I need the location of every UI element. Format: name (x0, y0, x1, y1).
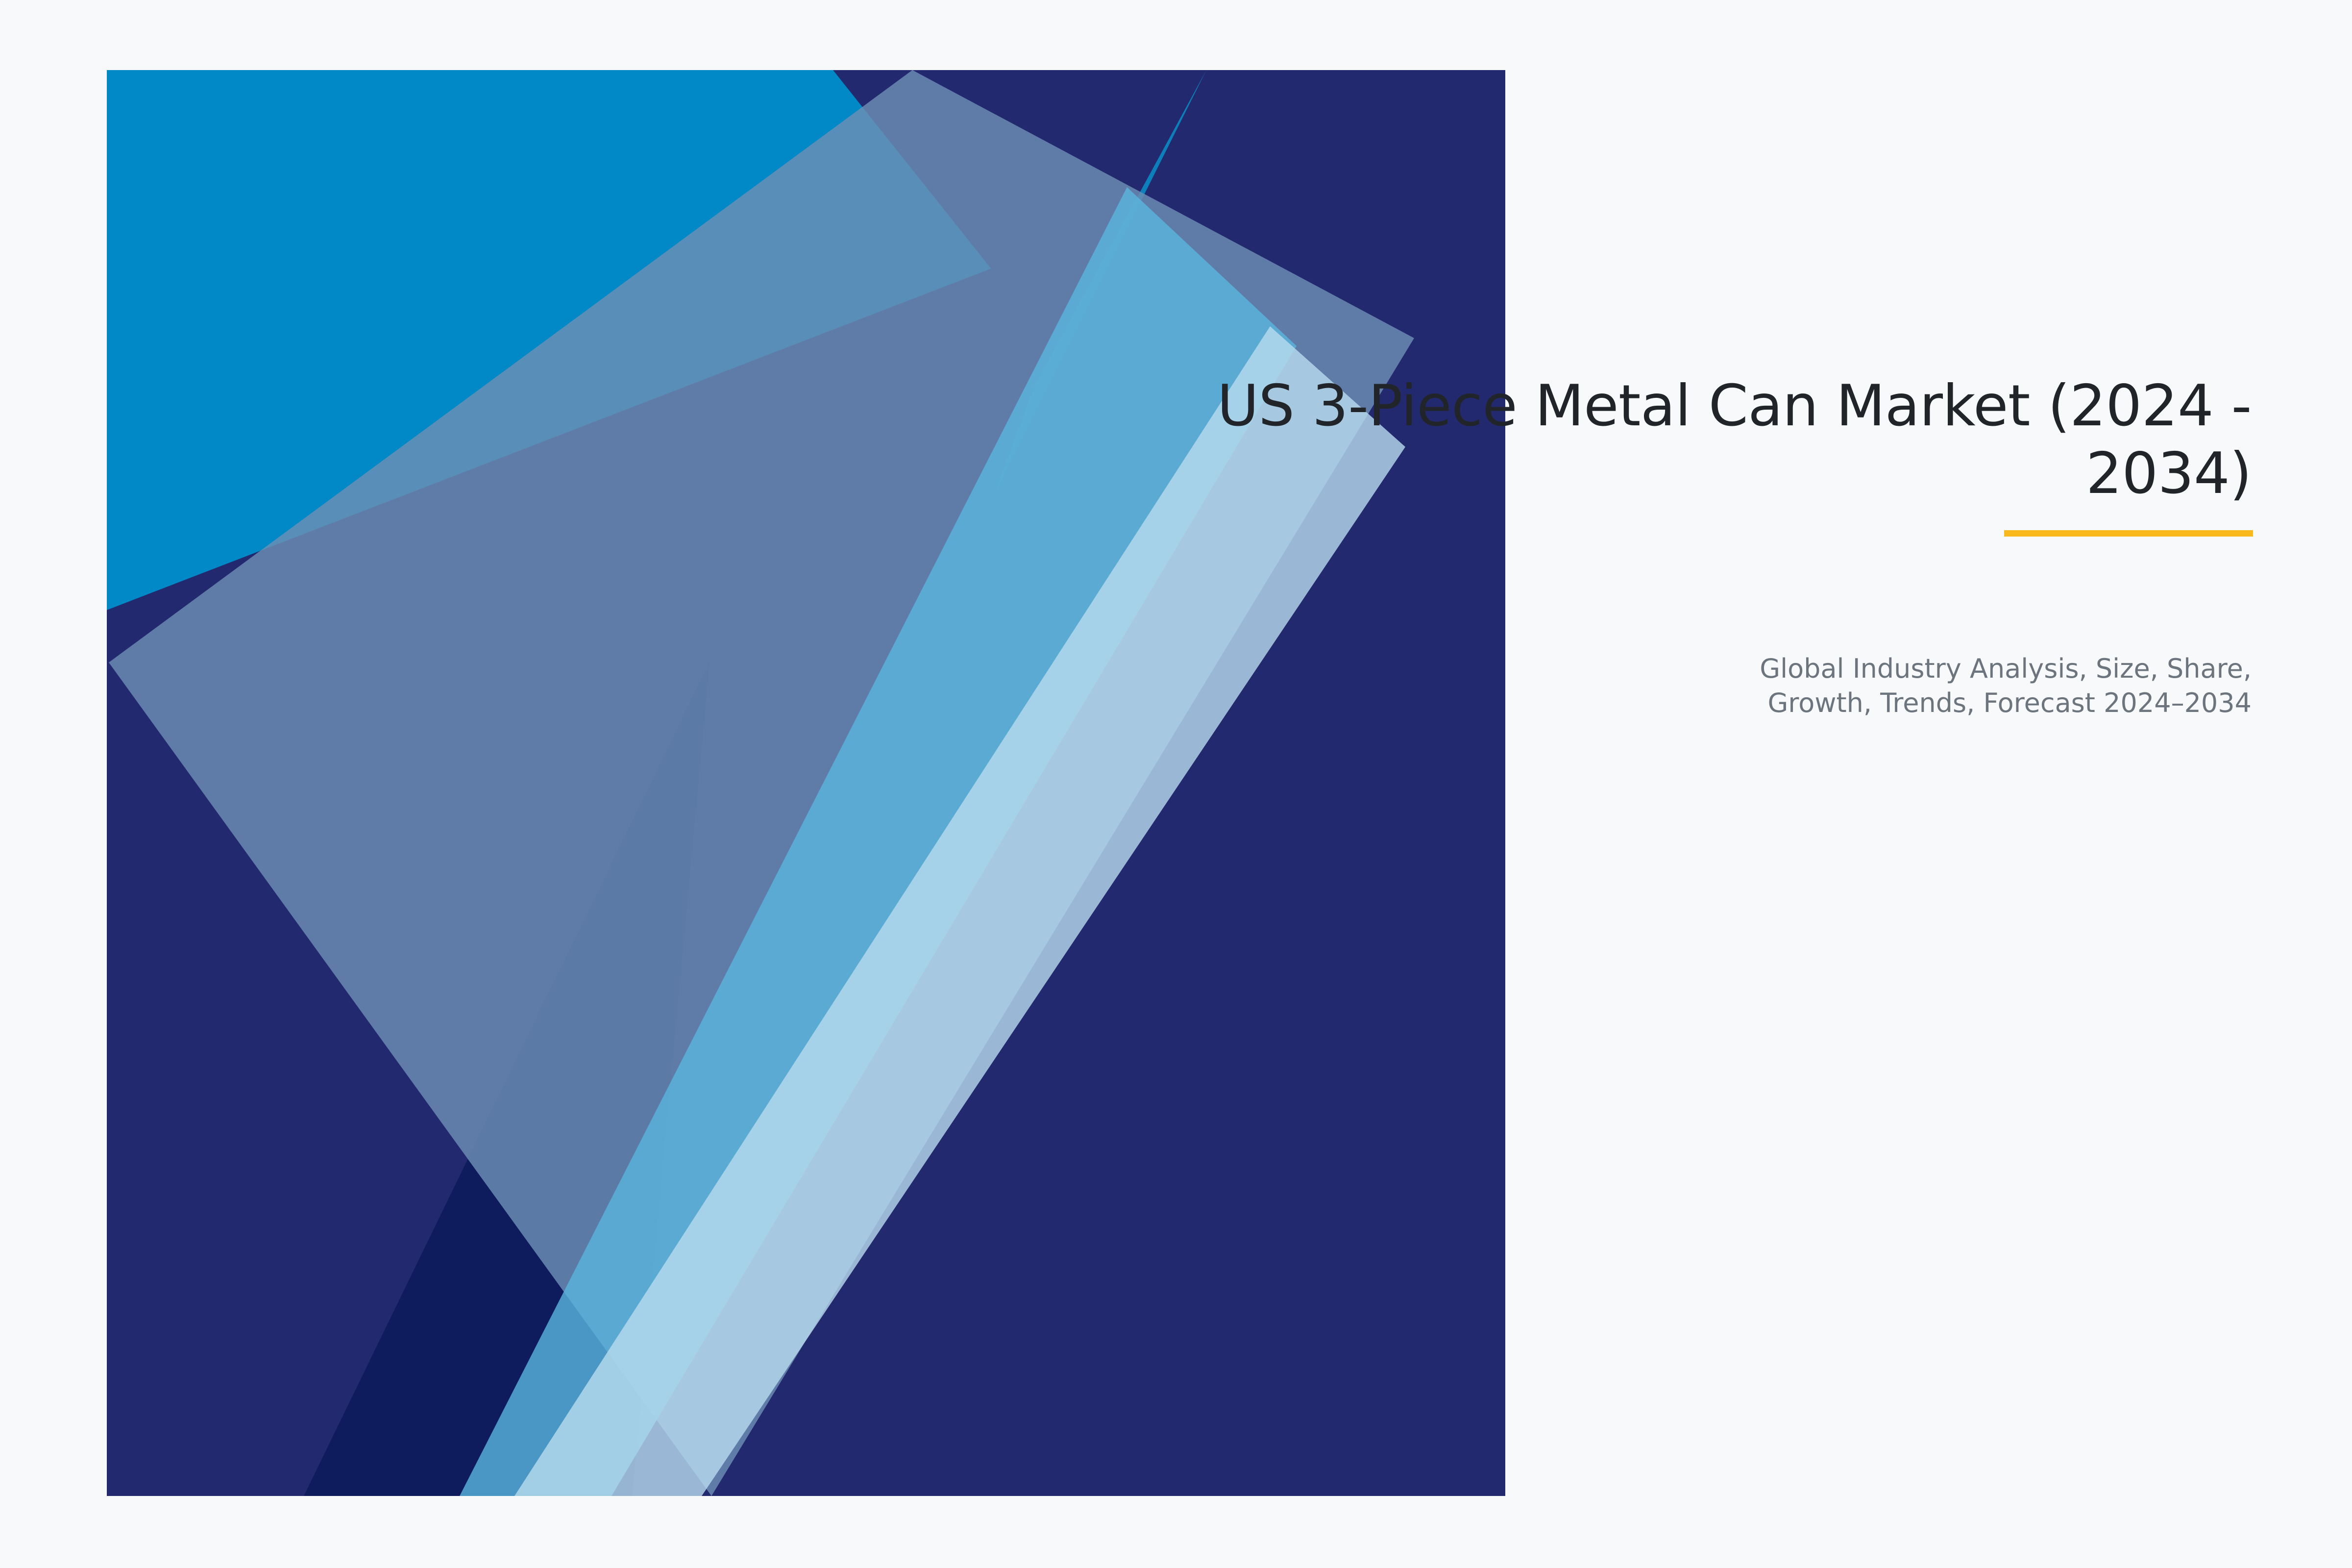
subtitle-block: Global Industry Analysis, Size, Share, G… (1421, 652, 2252, 720)
slate-blue-large-pane (109, 70, 1414, 1496)
page-title-line-1: US 3-Piece Metal Can Market (2024 - (1217, 373, 2252, 439)
page-subtitle: Global Industry Analysis, Size, Share, G… (1421, 652, 2252, 720)
hero-abstract-graphic (0, 0, 2352, 1568)
page-title: US 3-Piece Metal Can Market (2024 - 2034… (759, 372, 2252, 508)
title-accent-bar (2004, 530, 2253, 537)
page-title-line-2: 2034) (2086, 441, 2252, 507)
deep-navy-lower-wedge (304, 662, 710, 1496)
page-subtitle-line-2: Growth, Trends, Forecast 2024–2034 (1421, 686, 2252, 720)
title-block: US 3-Piece Metal Can Market (2024 - 2034… (759, 372, 2252, 508)
navy-diagonal-sweep (107, 70, 1505, 1496)
artwork-overlay-layers (109, 70, 1414, 1496)
page-subtitle-line-1: Global Industry Analysis, Size, Share, (1421, 652, 2252, 686)
artwork-base-layers (107, 70, 1529, 1496)
cyan-background-field (107, 70, 1505, 1496)
